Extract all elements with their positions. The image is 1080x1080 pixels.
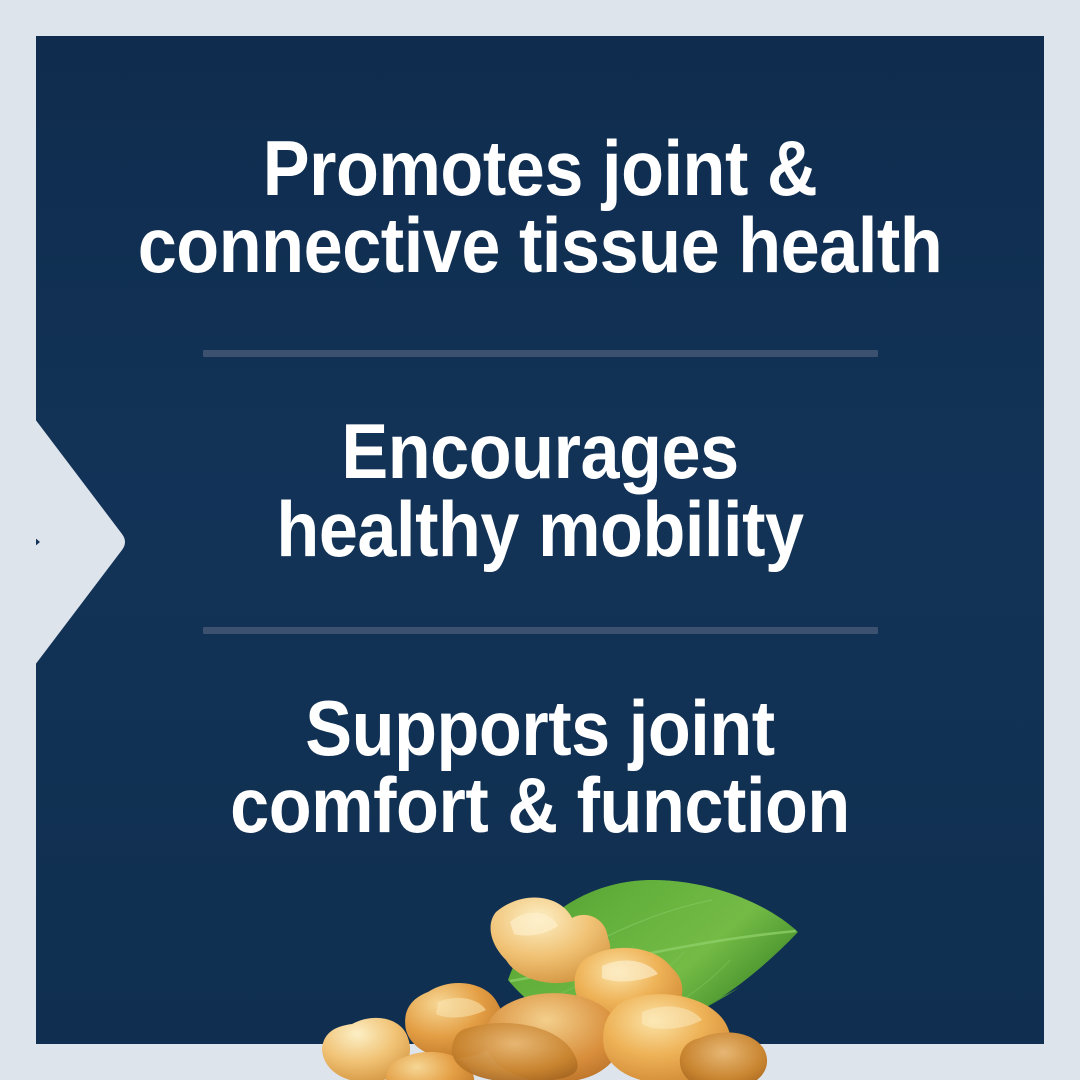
product-benefits-graphic: Promotes joint & connective tissue healt… — [0, 0, 1080, 1080]
benefit-item-joint-comfort-function: Supports joint comfort & function — [86, 690, 993, 844]
chevron-right-icon — [0, 386, 126, 698]
benefit-line: Supports joint — [86, 690, 993, 767]
benefit-line: Encourages — [86, 413, 993, 490]
benefit-line: comfort & function — [86, 767, 993, 844]
benefit-item-healthy-mobility: Encourages healthy mobility — [86, 413, 993, 567]
benefit-line: Promotes joint & — [86, 130, 993, 207]
benefit-line: connective tissue health — [86, 207, 993, 284]
benefit-item-joint-connective-tissue: Promotes joint & connective tissue healt… — [86, 130, 993, 284]
section-divider — [203, 350, 878, 357]
benefit-line: healthy mobility — [86, 491, 993, 568]
benefits-content-column: Promotes joint & connective tissue healt… — [36, 36, 1044, 1044]
section-divider — [203, 627, 878, 634]
